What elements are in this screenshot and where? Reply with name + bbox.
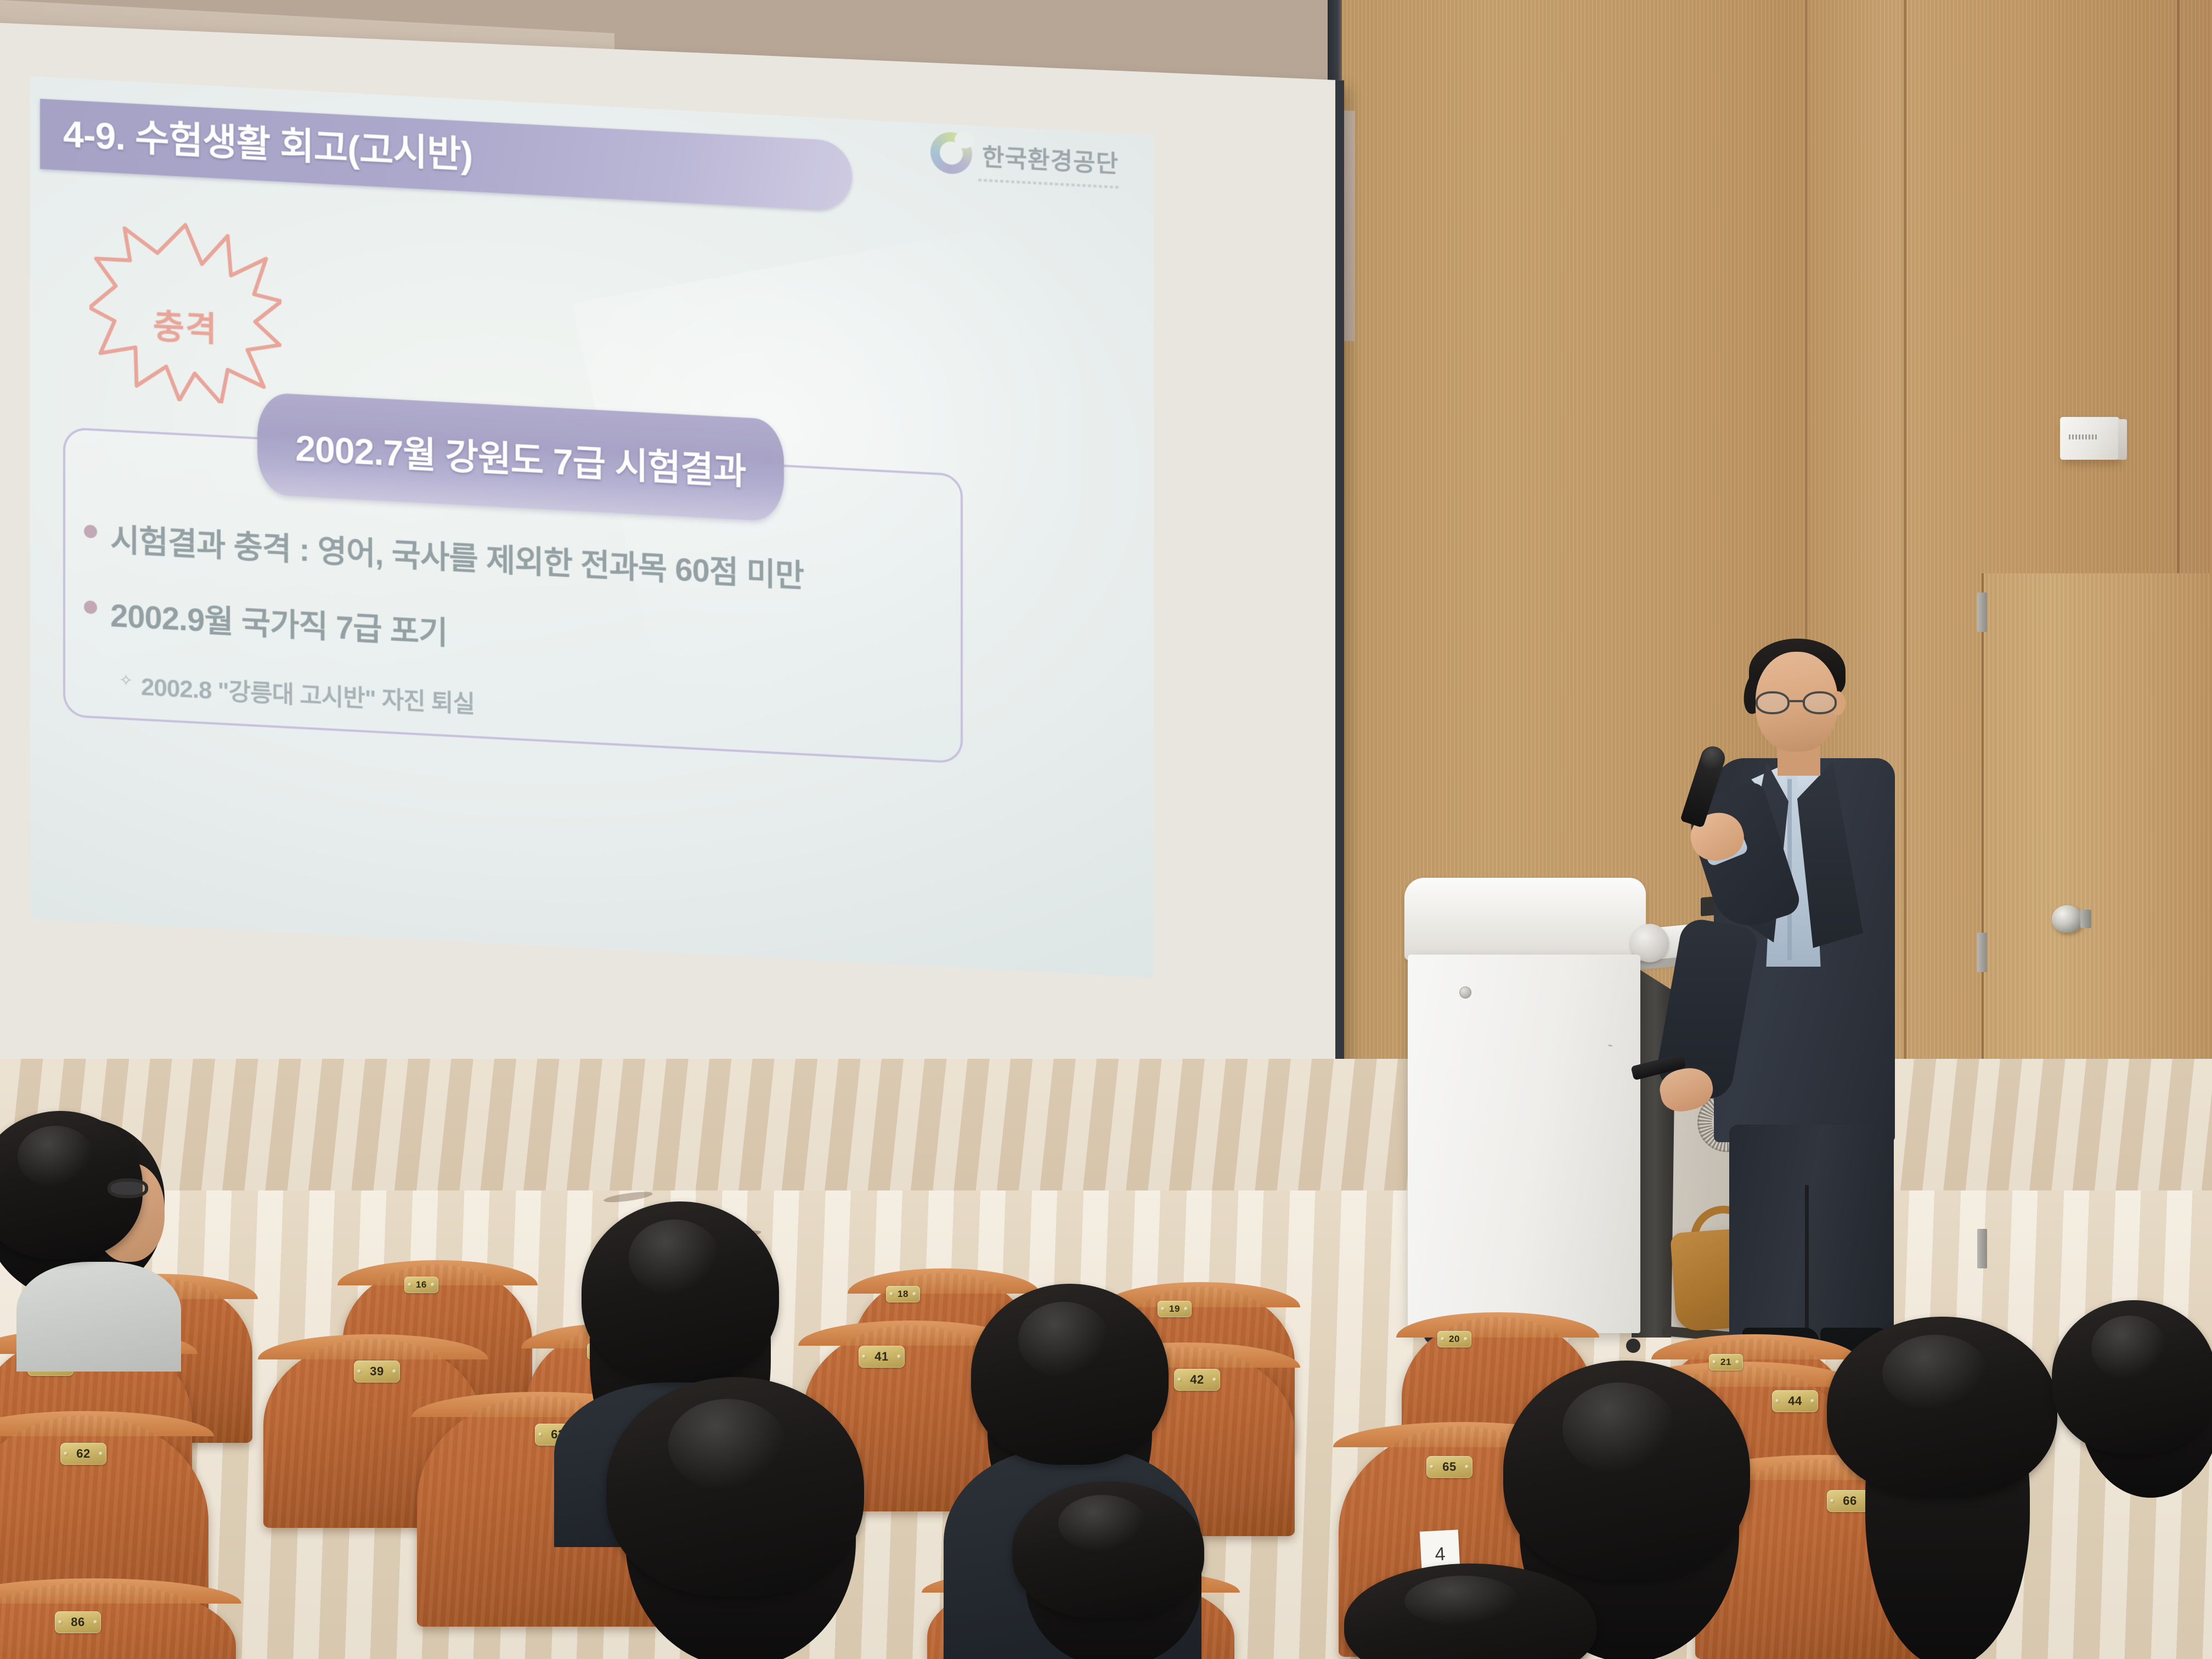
organization-name: 한국환경공단 — [982, 137, 1119, 179]
glasses-icon — [108, 1178, 148, 1198]
trouser-seam — [1805, 1185, 1809, 1350]
audience-head — [971, 1284, 1169, 1465]
glasses-icon — [1756, 691, 1839, 714]
seat-number-plate: 18 — [886, 1286, 920, 1302]
projected-slide: 4-9. 수험생활 회고(고시반) 한국환경공단 충격 2002.7월 — [30, 76, 1154, 978]
sub-bullet-diamond-icon: ✧ — [119, 675, 131, 687]
speaker-side — [2118, 419, 2127, 460]
door-hinge-icon — [1977, 933, 1987, 972]
seat-number-plate: 62 — [60, 1443, 106, 1465]
bullet-dot-icon — [84, 524, 97, 538]
list-item: 시험결과 충격 : 영어, 국사를 제외한 전과목 60점 미만 — [84, 512, 951, 604]
seat-number-plate: 41 — [859, 1346, 905, 1368]
slide-content-card: 2002.7월 강원도 7급 시험결과 시험결과 충격 : 영어, 국사를 제외… — [63, 427, 963, 764]
seat-number-plate: 44 — [1772, 1390, 1818, 1412]
seat-number-plate: 16 — [404, 1277, 438, 1293]
bullet-text: 시험결과 충격 : 영어, 국사를 제외한 전과목 60점 미만 — [110, 514, 804, 596]
slide-banner: 2002.7월 강원도 7급 시험결과 — [257, 392, 784, 522]
audience-head — [606, 1377, 864, 1596]
shock-starburst: 충격 — [89, 216, 281, 407]
seat-number-plate: 65 — [1426, 1456, 1472, 1478]
projection-screen: 4-9. 수험생활 회고(고시반) 한국환경공단 충격 2002.7월 — [0, 22, 1344, 1211]
door-hinge-icon — [1977, 592, 1987, 632]
seat-number-plate: 21 — [1709, 1354, 1743, 1370]
starburst-label: 충격 — [89, 295, 281, 354]
sub-bullet-text: 2002.8 "강릉대 고시반" 자진 퇴실 — [141, 667, 475, 720]
podium-brand-mark: ⌁ — [1607, 1040, 1613, 1051]
presenter — [1679, 614, 1909, 1350]
door-hinge-icon — [1977, 1229, 1987, 1268]
door-knob-icon[interactable] — [2052, 905, 2083, 933]
screenshot-root: 4-9. 수험생활 회고(고시반) 한국환경공단 충격 2002.7월 — [0, 0, 2212, 1659]
audience-head — [1012, 1481, 1204, 1618]
audience-head — [582, 1201, 779, 1383]
audience-shoulders — [16, 1262, 181, 1372]
glasses-lens-left — [1756, 691, 1790, 714]
glasses-bridge — [1790, 700, 1804, 702]
audience-head — [1827, 1317, 2057, 1498]
bullet-dot-icon — [84, 600, 97, 614]
slide-banner-text: 2002.7월 강원도 7급 시험결과 — [295, 419, 746, 495]
seat-number-plate: 39 — [354, 1361, 400, 1383]
list-item: ✧ 2002.8 "강릉대 고시반" 자진 퇴실 — [119, 666, 951, 744]
seat-number-plate: 42 — [1174, 1369, 1220, 1391]
seat-number-plate: 19 — [1158, 1301, 1192, 1317]
presenter-trousers — [1729, 1125, 1894, 1355]
list-item: 2002.9월 국가직 7급 포기 — [84, 588, 951, 680]
seat-number-plate: 86 — [55, 1611, 101, 1633]
podium-lid — [1404, 878, 1646, 960]
audience-head — [1503, 1361, 1750, 1580]
podium-cabinet — [1408, 955, 1640, 1333]
lecture-hall-room: 4-9. 수험생활 회고(고시반) 한국환경공단 충격 2002.7월 — [0, 0, 2212, 1659]
organization-logo: 한국환경공단 — [930, 131, 1119, 183]
ring-logo-icon — [930, 131, 972, 175]
slide-bullet-list: 시험결과 충격 : 영어, 국사를 제외한 전과목 60점 미만 2002.9월… — [84, 512, 951, 744]
podium-caster-icon — [1626, 1339, 1640, 1353]
glasses-lens-right — [1803, 691, 1837, 714]
audience-seat[interactable]: 86 — [0, 1583, 236, 1659]
audience-head — [2052, 1300, 2212, 1454]
seat-number-plate: 20 — [1437, 1331, 1471, 1347]
wall-speaker-icon — [2060, 417, 2119, 460]
bullet-text: 2002.9월 국가직 7급 포기 — [110, 590, 448, 653]
speaker-vent-icon — [2069, 435, 2097, 439]
podium-lock-icon[interactable] — [1459, 986, 1471, 998]
